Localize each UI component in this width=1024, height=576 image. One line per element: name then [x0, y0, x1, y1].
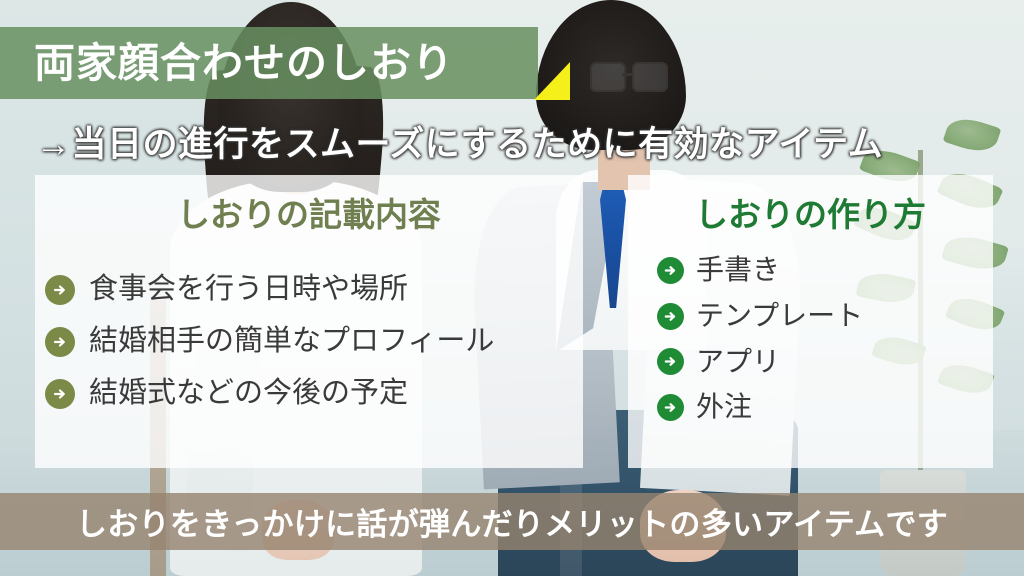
list-item-label: 食事会を行う日時や場所: [89, 274, 408, 306]
slide-root: 両家顔合わせのしおり →当日の進行をスムーズにするために有効なアイテム しおりの…: [0, 0, 1024, 576]
list-item: アプリ: [657, 347, 997, 378]
list-item-label: テンプレート: [696, 301, 863, 332]
list-item: 結婚式などの今後の予定: [45, 378, 585, 410]
arrow-right-circle-icon: [657, 303, 684, 330]
list-item: 外注: [657, 392, 997, 423]
arrow-right-circle-icon: [657, 257, 684, 284]
left-panel-list: 食事会を行う日時や場所 結婚相手の簡単なプロフィール 結婚式などの今後の予定: [45, 274, 585, 430]
bottom-banner-text: しおりをきっかけに話が弾んだりメリットの多いアイテムです: [76, 499, 948, 544]
title-banner: 両家顔合わせのしおり: [0, 27, 538, 99]
list-item-label: 外注: [696, 392, 752, 423]
page-title: 両家顔合わせのしおり: [34, 43, 454, 84]
arrow-right-circle-icon: [45, 327, 75, 357]
left-panel-heading: しおりの記載内容: [35, 198, 583, 231]
list-item-label: 結婚式などの今後の予定: [89, 378, 408, 410]
right-panel-heading: しおりの作り方: [628, 198, 993, 231]
list-item-label: 結婚相手の簡単なプロフィール: [89, 326, 494, 358]
list-item: 食事会を行う日時や場所: [45, 274, 585, 306]
list-item: 手書き: [657, 255, 997, 286]
subtitle-text: →当日の進行をスムーズにするために有効なアイテム: [36, 116, 976, 167]
list-item-label: 手書き: [696, 255, 780, 286]
arrow-right-circle-icon: [45, 275, 75, 305]
list-item: テンプレート: [657, 301, 997, 332]
list-item-label: アプリ: [696, 347, 780, 378]
bottom-banner: しおりをきっかけに話が弾んだりメリットの多いアイテムです: [0, 493, 1024, 550]
photo-man-glasses: [590, 62, 674, 88]
arrow-right-circle-icon: [657, 394, 684, 421]
list-item: 結婚相手の簡単なプロフィール: [45, 326, 585, 358]
arrow-right-circle-icon: [45, 379, 75, 409]
right-panel-list: 手書き テンプレート アプリ 外注: [657, 255, 997, 438]
arrow-right-circle-icon: [657, 348, 684, 375]
